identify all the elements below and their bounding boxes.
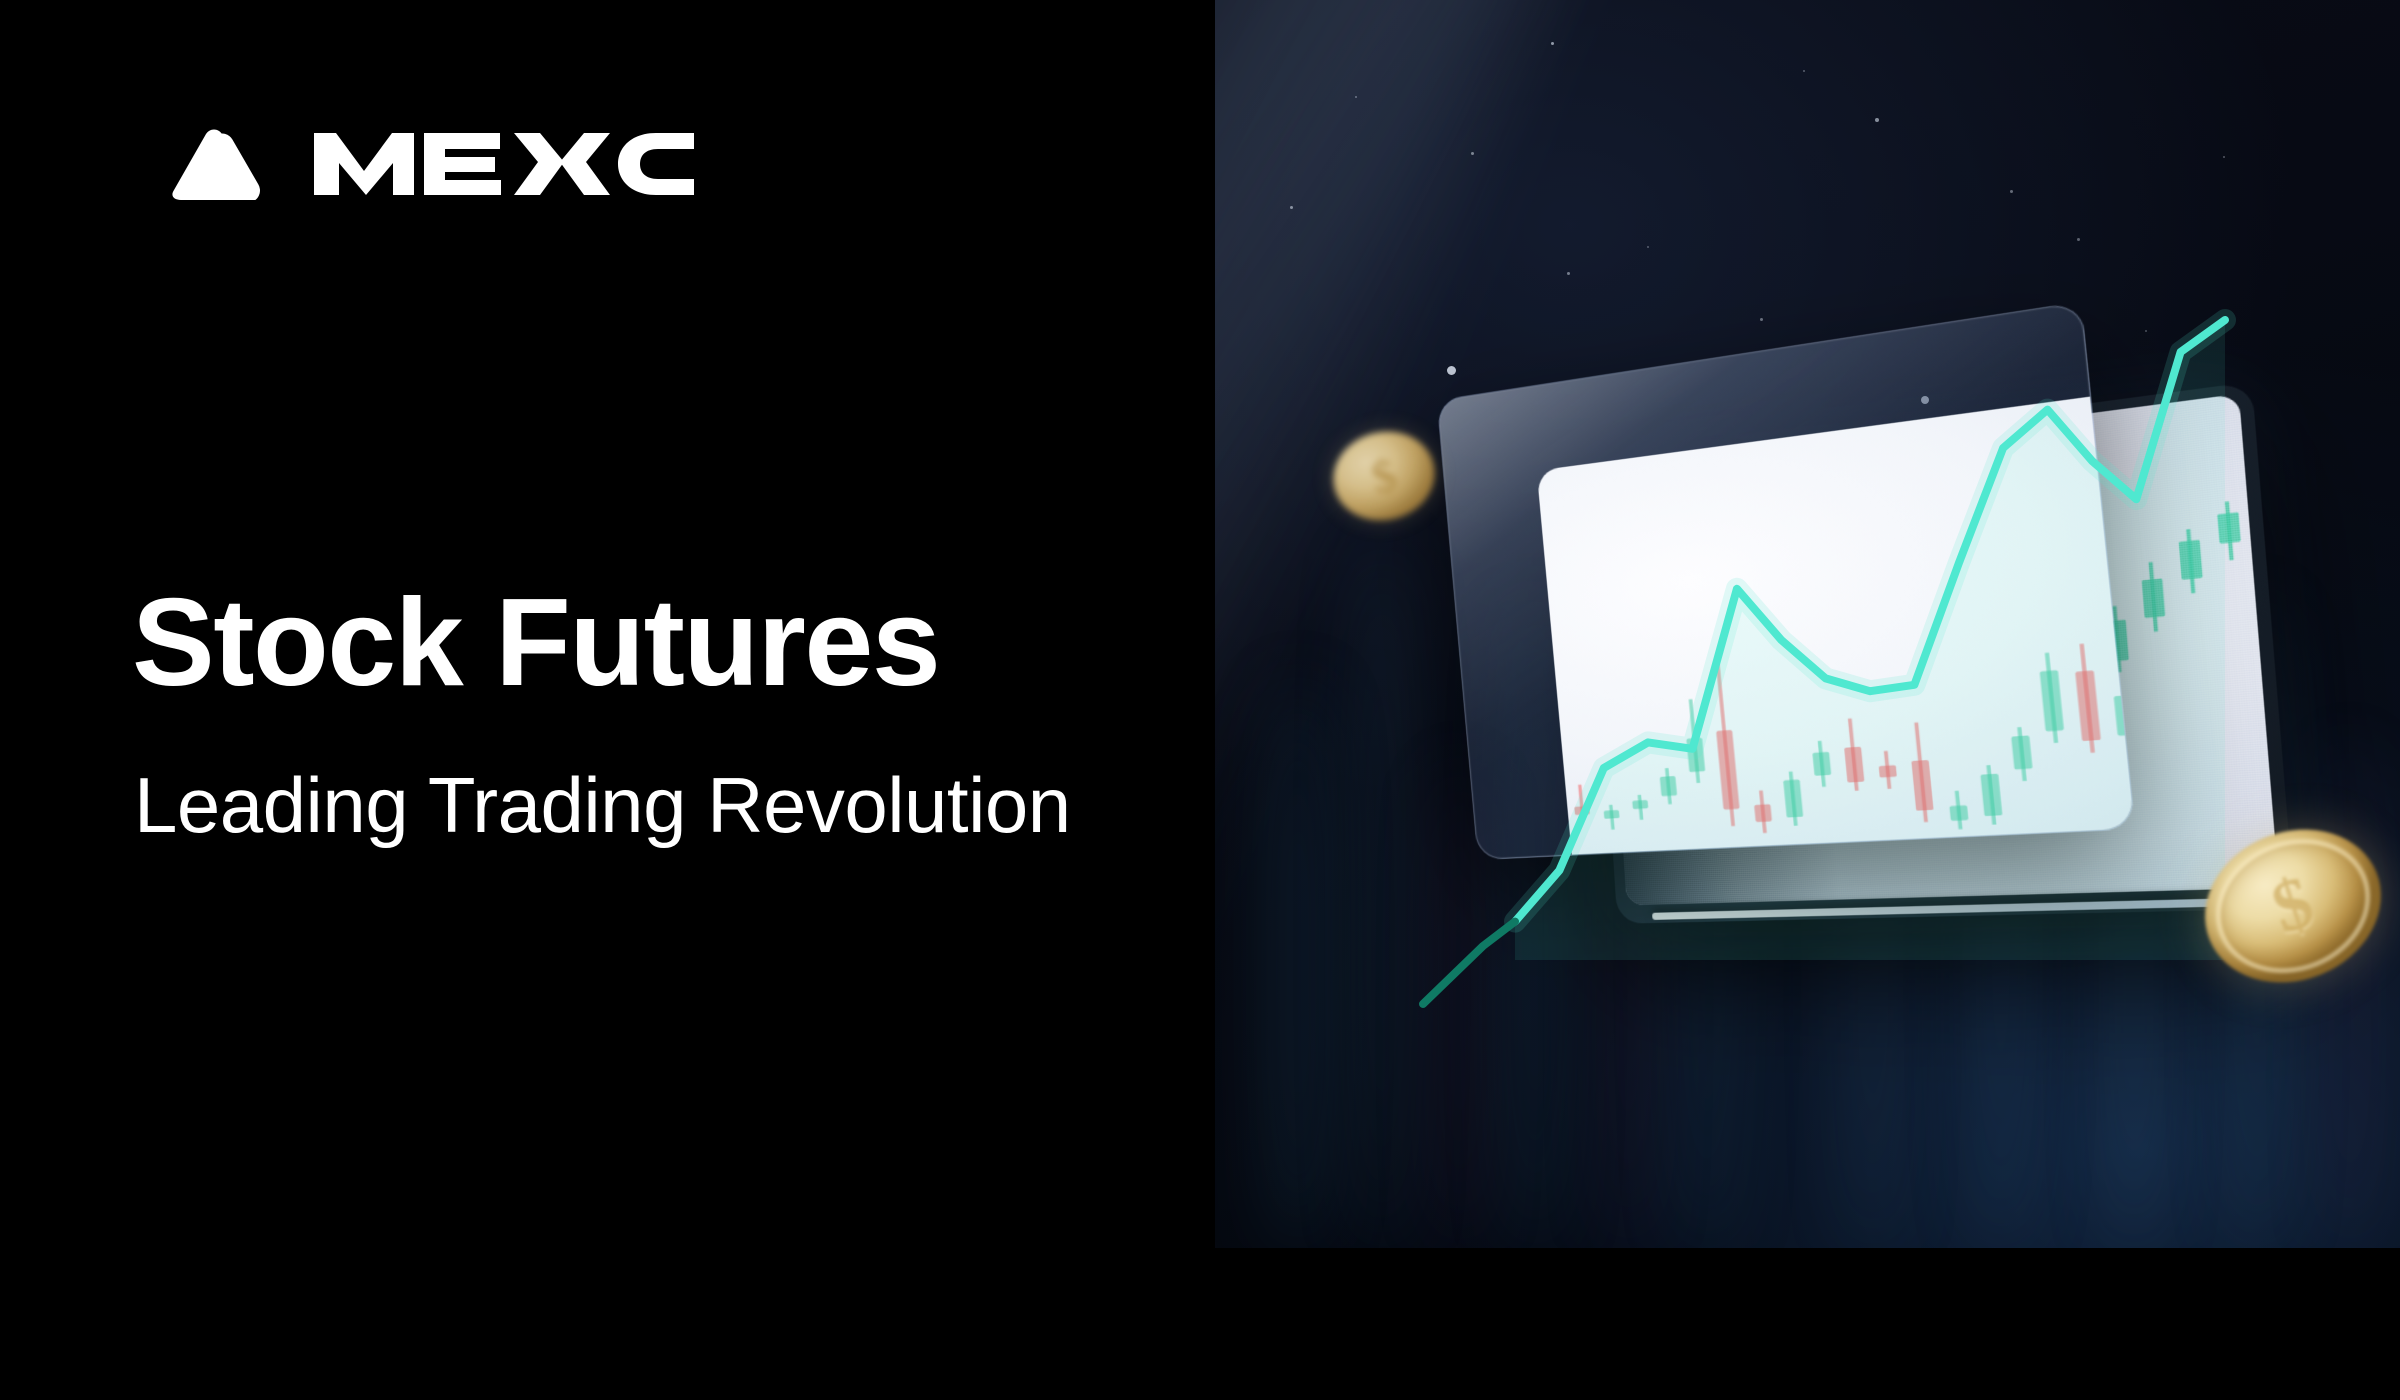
hero-artwork-panel: $ $ (1215, 0, 2400, 1248)
page-title: Stock Futures (132, 578, 939, 709)
device-stack: $ $ (1215, 0, 2400, 1248)
mexc-logo[interactable] (168, 128, 694, 200)
teal-trend-line (1215, 0, 2400, 1248)
mexc-stock-futures-banner: $ $ Stock Futures Leading Trading Revolu… (0, 0, 2400, 1400)
mexc-logo-mark-icon (168, 128, 280, 200)
mexc-logo-wordmark (314, 129, 694, 199)
page-subtitle: Leading Trading Revolution (134, 762, 1071, 849)
